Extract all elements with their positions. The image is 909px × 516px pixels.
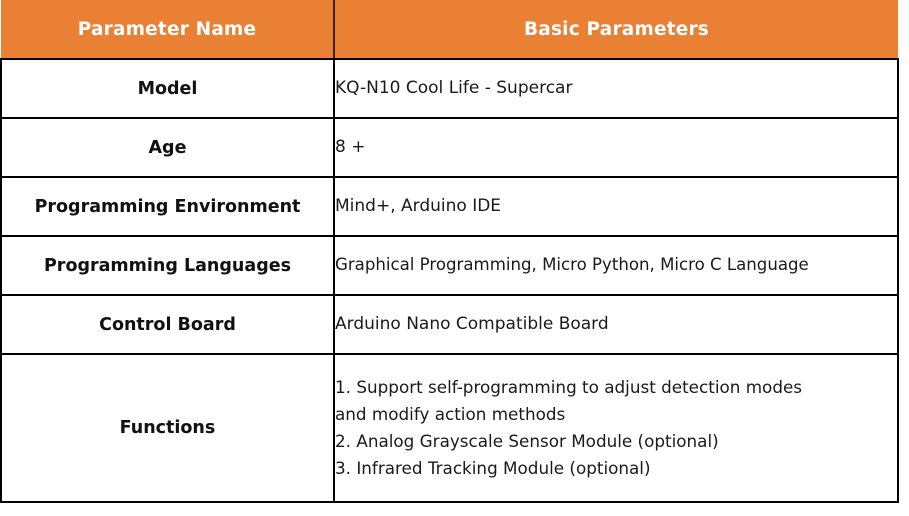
param-value-programming-languages: Graphical Programming, Micro Python, Mic… [334,236,898,295]
table-row: Functions 1. Support self-programming to… [1,354,898,502]
param-label-programming-environment: Programming Environment [1,177,334,236]
param-label-functions: Functions [1,354,334,502]
table-row: Model KQ-N10 Cool Life - Supercar [1,59,898,118]
header-row: Parameter Name Basic Parameters [1,0,898,59]
param-value-model: KQ-N10 Cool Life - Supercar [334,59,898,118]
table-row: Programming Environment Mind+, Arduino I… [1,177,898,236]
table-row: Programming Languages Graphical Programm… [1,236,898,295]
param-value-programming-environment: Mind+, Arduino IDE [334,177,898,236]
table-body: Model KQ-N10 Cool Life - Supercar Age 8 … [1,59,898,502]
param-label-age: Age [1,118,334,177]
param-label-programming-languages: Programming Languages [1,236,334,295]
param-value-functions: 1. Support self-programming to adjust de… [334,354,898,502]
param-label-model: Model [1,59,334,118]
param-value-age: 8 + [334,118,898,177]
param-label-control-board: Control Board [1,295,334,354]
param-value-control-board: Arduino Nano Compatible Board [334,295,898,354]
table-row: Control Board Arduino Nano Compatible Bo… [1,295,898,354]
table-header: Parameter Name Basic Parameters [1,0,898,59]
column-header-parameter-name: Parameter Name [1,0,334,59]
table-row: Age 8 + [1,118,898,177]
column-header-basic-parameters: Basic Parameters [334,0,898,59]
specifications-table: Parameter Name Basic Parameters Model KQ… [0,0,899,503]
